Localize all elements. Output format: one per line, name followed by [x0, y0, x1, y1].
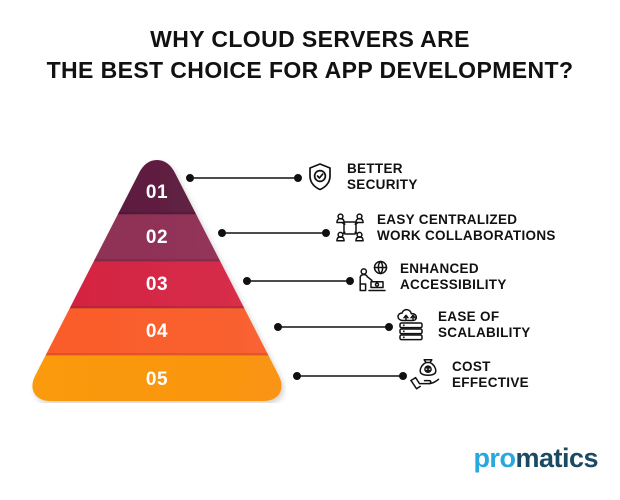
- item-line-1: EASY CENTRALIZED: [377, 212, 517, 227]
- logo-part-pro: pro: [473, 443, 515, 473]
- list-item-label: ENHANCED ACCESSIBILITY: [400, 261, 507, 294]
- item-line-2: EFFECTIVE: [452, 375, 529, 390]
- list-item-security: BETTER SECURITY: [303, 160, 418, 194]
- item-line-1: ENHANCED: [400, 261, 479, 276]
- item-line-2: SECURITY: [347, 177, 418, 192]
- list-item-label: EASE OF SCALABILITY: [438, 309, 531, 342]
- logo-part-matics: matics: [515, 443, 598, 473]
- list-item-label: EASY CENTRALIZED WORK COLLABORATIONS: [377, 212, 556, 245]
- list-item-label: COST EFFECTIVE: [452, 359, 529, 392]
- pyramid-label-2: 02: [122, 227, 192, 249]
- list-item-accessibility: ENHANCED ACCESSIBILITY: [356, 260, 507, 294]
- item-line-2: SCALABILITY: [438, 325, 531, 340]
- page-title: WHY CLOUD SERVERS ARE THE BEST CHOICE FO…: [0, 24, 620, 86]
- list-item-cost: COST EFFECTIVE: [408, 358, 529, 392]
- title-line-2: THE BEST CHOICE FOR APP DEVELOPMENT?: [0, 55, 620, 86]
- hand-money-bag-icon: [408, 358, 442, 392]
- item-line-2: WORK COLLABORATIONS: [377, 228, 556, 243]
- list-item-label: BETTER SECURITY: [347, 161, 418, 194]
- title-line-1: WHY CLOUD SERVERS ARE: [0, 24, 620, 55]
- pyramid-chart: 01 02 03 04 05: [28, 158, 286, 403]
- pyramid-label-5: 05: [122, 369, 192, 391]
- globe-user-laptop-icon: [356, 260, 390, 294]
- pyramid-label-3: 03: [122, 274, 192, 296]
- pyramid-label-4: 04: [122, 321, 192, 343]
- shield-check-icon: [303, 160, 337, 194]
- promatics-logo: promatics: [473, 443, 598, 474]
- list-item-scalability: EASE OF SCALABILITY: [394, 308, 531, 342]
- item-line-1: BETTER: [347, 161, 403, 176]
- list-item-collaboration: EASY CENTRALIZED WORK COLLABORATIONS: [333, 211, 556, 245]
- pyramid-label-1: 01: [122, 182, 192, 204]
- item-line-1: EASE OF: [438, 309, 499, 324]
- item-line-1: COST: [452, 359, 491, 374]
- cloud-server-icon: [394, 308, 428, 342]
- item-line-2: ACCESSIBILITY: [400, 277, 507, 292]
- team-network-icon: [333, 211, 367, 245]
